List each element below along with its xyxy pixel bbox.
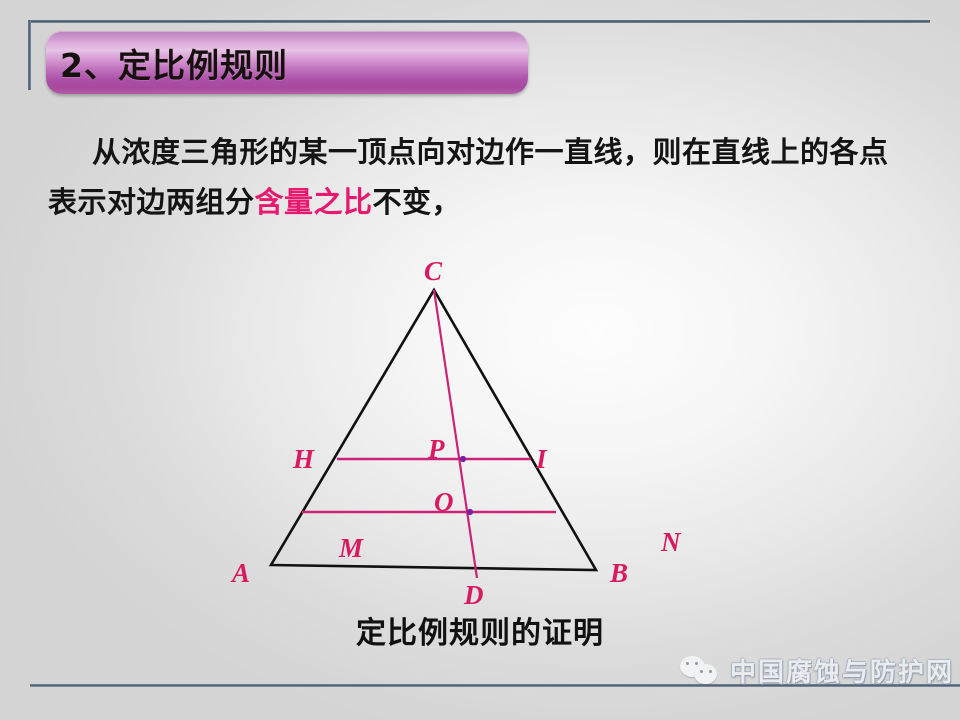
label-h: H bbox=[292, 444, 315, 474]
watermark-label: 中国腐蚀与防护网 bbox=[730, 652, 954, 689]
label-i: I bbox=[535, 444, 548, 474]
page-title: 2、定比例规则 bbox=[60, 39, 288, 87]
label-a: A bbox=[230, 558, 250, 588]
body-segment-3: 不变， bbox=[373, 185, 462, 219]
label-o: O bbox=[434, 487, 454, 517]
label-b: B bbox=[609, 558, 628, 588]
label-m: M bbox=[338, 533, 364, 563]
point-p-dot bbox=[460, 456, 466, 462]
section-title-pill: 2、定比例规则 bbox=[46, 31, 528, 94]
footer-watermark: 中国腐蚀与防护网 bbox=[680, 652, 954, 689]
wechat-icon bbox=[680, 655, 720, 687]
cevian-cd-line bbox=[434, 290, 477, 578]
label-d: D bbox=[463, 580, 484, 610]
left-accent-rule bbox=[28, 20, 31, 90]
body-segment-1: 从浓度三角形的某一顶点向对边作一直线，则在直线上的 bbox=[92, 135, 830, 169]
body-highlight: 含量之比 bbox=[255, 185, 373, 219]
label-n: N bbox=[660, 527, 682, 557]
label-p: P bbox=[427, 434, 445, 464]
figure-caption: 定比例规则的证明 bbox=[0, 608, 960, 652]
slide-canvas: 2、定比例规则 从浓度三角形的某一顶点向对边作一直线，则在直线上的各点表示对边两… bbox=[0, 0, 960, 720]
point-o-dot bbox=[467, 509, 473, 515]
top-accent-rule bbox=[28, 20, 930, 23]
triangle-outline bbox=[271, 290, 596, 570]
label-c: C bbox=[424, 256, 443, 286]
body-paragraph: 从浓度三角形的某一顶点向对边作一直线，则在直线上的各点表示对边两组分含量之比不变… bbox=[48, 128, 916, 228]
